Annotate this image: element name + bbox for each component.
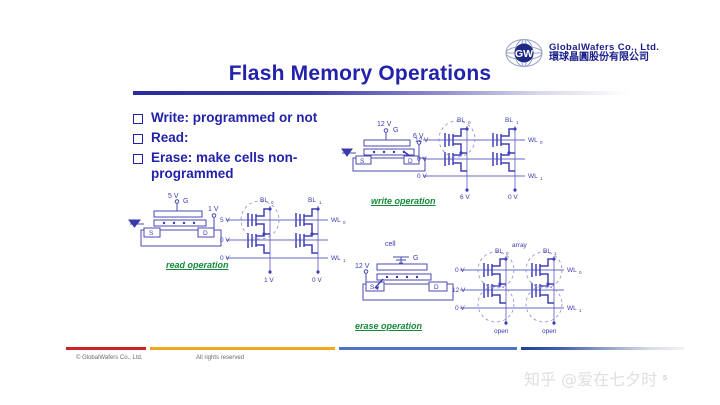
- footer-bar-gradient: [521, 347, 684, 350]
- svg-text:0: 0: [343, 220, 346, 225]
- write-cell-source-label: S: [360, 158, 365, 165]
- footer-rights: All rights reserved: [196, 355, 244, 361]
- write-bl1-label: BL: [505, 117, 513, 124]
- svg-text:1: 1: [516, 120, 519, 125]
- footer-bar-red: [66, 347, 146, 350]
- write-cell-drain-label: D: [408, 158, 413, 165]
- erase-operation-diagram: cell G 12 V S D: [355, 238, 465, 313]
- svg-text:1: 1: [319, 200, 322, 205]
- square-bullet-icon: [133, 134, 143, 144]
- read-wl1-label: WL: [331, 255, 341, 262]
- bullet-label: Read:: [151, 130, 189, 146]
- page-title: Flash Memory Operations: [0, 62, 720, 86]
- watermark: 知乎 @爱在七夕时: [524, 366, 657, 390]
- svg-text:0: 0: [271, 200, 274, 205]
- svg-text:0: 0: [540, 140, 543, 145]
- erase-bl1-label: BL: [543, 248, 551, 255]
- read-bl0-label: BL: [260, 197, 268, 204]
- list-item: Write: programmed or not: [133, 110, 363, 126]
- write-bl0-label: BL: [457, 117, 465, 124]
- read-cell-source-label: S: [149, 230, 154, 237]
- read-operation-caption: read operation: [166, 260, 229, 270]
- erase-bl0-state: open: [494, 328, 509, 335]
- read-v-row0: 5 V: [220, 217, 230, 224]
- write-cell-gate-label: G: [393, 127, 398, 134]
- write-array-circuit: BL0 BL1 WL0 WL1 12 V 0 V 0 V 6 V 0 V: [415, 112, 543, 200]
- svg-text:0: 0: [579, 270, 582, 275]
- write-cell-gate-voltage: 12 V: [377, 121, 392, 128]
- erase-bl1-state: open: [542, 328, 557, 335]
- erase-cell-gate-label: G: [413, 255, 418, 262]
- write-wl0-label: WL: [528, 137, 538, 144]
- square-bullet-icon: [133, 154, 143, 164]
- page-number: 5: [663, 375, 667, 382]
- read-cell-gate-voltage: 5 V: [168, 193, 179, 200]
- write-bl0-voltage: 6 V: [460, 194, 470, 201]
- footer-bar-orange: [150, 347, 335, 350]
- erase-array-label: array: [512, 242, 528, 249]
- read-cell-gate-label: G: [183, 198, 188, 205]
- svg-text:0: 0: [506, 251, 509, 256]
- footer-copyright: © GlobalWafers Co., Ltd.: [76, 355, 143, 361]
- write-v-row0: 12 V: [415, 137, 429, 144]
- write-v-row1: 0 V: [417, 156, 427, 163]
- read-array-circuit: BL0 BL1 WL0 WL1 5 V 0 V 0 V 1 V 0 V: [218, 192, 346, 284]
- read-v-row1: 0 V: [220, 237, 230, 244]
- bullet-list: Write: programmed or not Read: Erase: ma…: [133, 110, 363, 186]
- svg-text:GW: GW: [515, 48, 533, 60]
- list-item: Erase: make cells non-programmed: [133, 150, 363, 182]
- svg-text:0: 0: [468, 120, 471, 125]
- erase-cell-label: cell: [385, 241, 396, 248]
- write-bl1-voltage: 0 V: [508, 194, 518, 201]
- svg-text:1: 1: [540, 176, 543, 181]
- list-item: Read:: [133, 130, 363, 146]
- read-cell-drain-label: D: [203, 230, 208, 237]
- erase-v-row0: 0 V: [455, 267, 465, 274]
- erase-cell-source-label: S: [370, 284, 375, 291]
- write-operation-caption: write operation: [371, 196, 436, 206]
- erase-v-row2: 0 V: [455, 305, 465, 312]
- square-bullet-icon: [133, 114, 143, 124]
- read-bl0-voltage: 1 V: [264, 277, 274, 284]
- erase-operation-caption: erase operation: [355, 321, 422, 331]
- footer-bar-blue: [339, 347, 517, 350]
- svg-text:1: 1: [554, 251, 557, 256]
- erase-v-row1: 12 V: [452, 287, 466, 294]
- write-wl1-label: WL: [528, 173, 538, 180]
- erase-array-circuit: array BL0 BL1 WL0 WL1 0 V 12 V 0 V open …: [452, 240, 588, 335]
- erase-wl1-label: WL: [567, 305, 577, 312]
- logo-wordmark: GlobalWafers Co., Ltd. 環球晶圓股份有限公司: [549, 43, 659, 63]
- erase-cell-drain-label: D: [434, 284, 439, 291]
- svg-text:1: 1: [579, 308, 582, 313]
- bullet-label: Write: programmed or not: [151, 110, 317, 126]
- bullet-label: Erase: make cells non-programmed: [151, 150, 363, 182]
- title-underline-bar: [133, 91, 630, 95]
- erase-bl0-label: BL: [495, 248, 503, 255]
- erase-cell-source-voltage: 12 V: [355, 263, 370, 270]
- svg-text:1: 1: [343, 258, 346, 263]
- write-v-row2: 0 V: [417, 173, 427, 180]
- slide-canvas: GW GlobalWafers Co., Ltd. 環球晶圓股份有限公司 Fla…: [0, 0, 720, 405]
- erase-wl0-label: WL: [567, 267, 577, 274]
- read-bl1-voltage: 0 V: [312, 277, 322, 284]
- footer-color-bars: [66, 347, 684, 350]
- read-bl1-label: BL: [308, 197, 316, 204]
- read-wl0-label: WL: [331, 217, 341, 224]
